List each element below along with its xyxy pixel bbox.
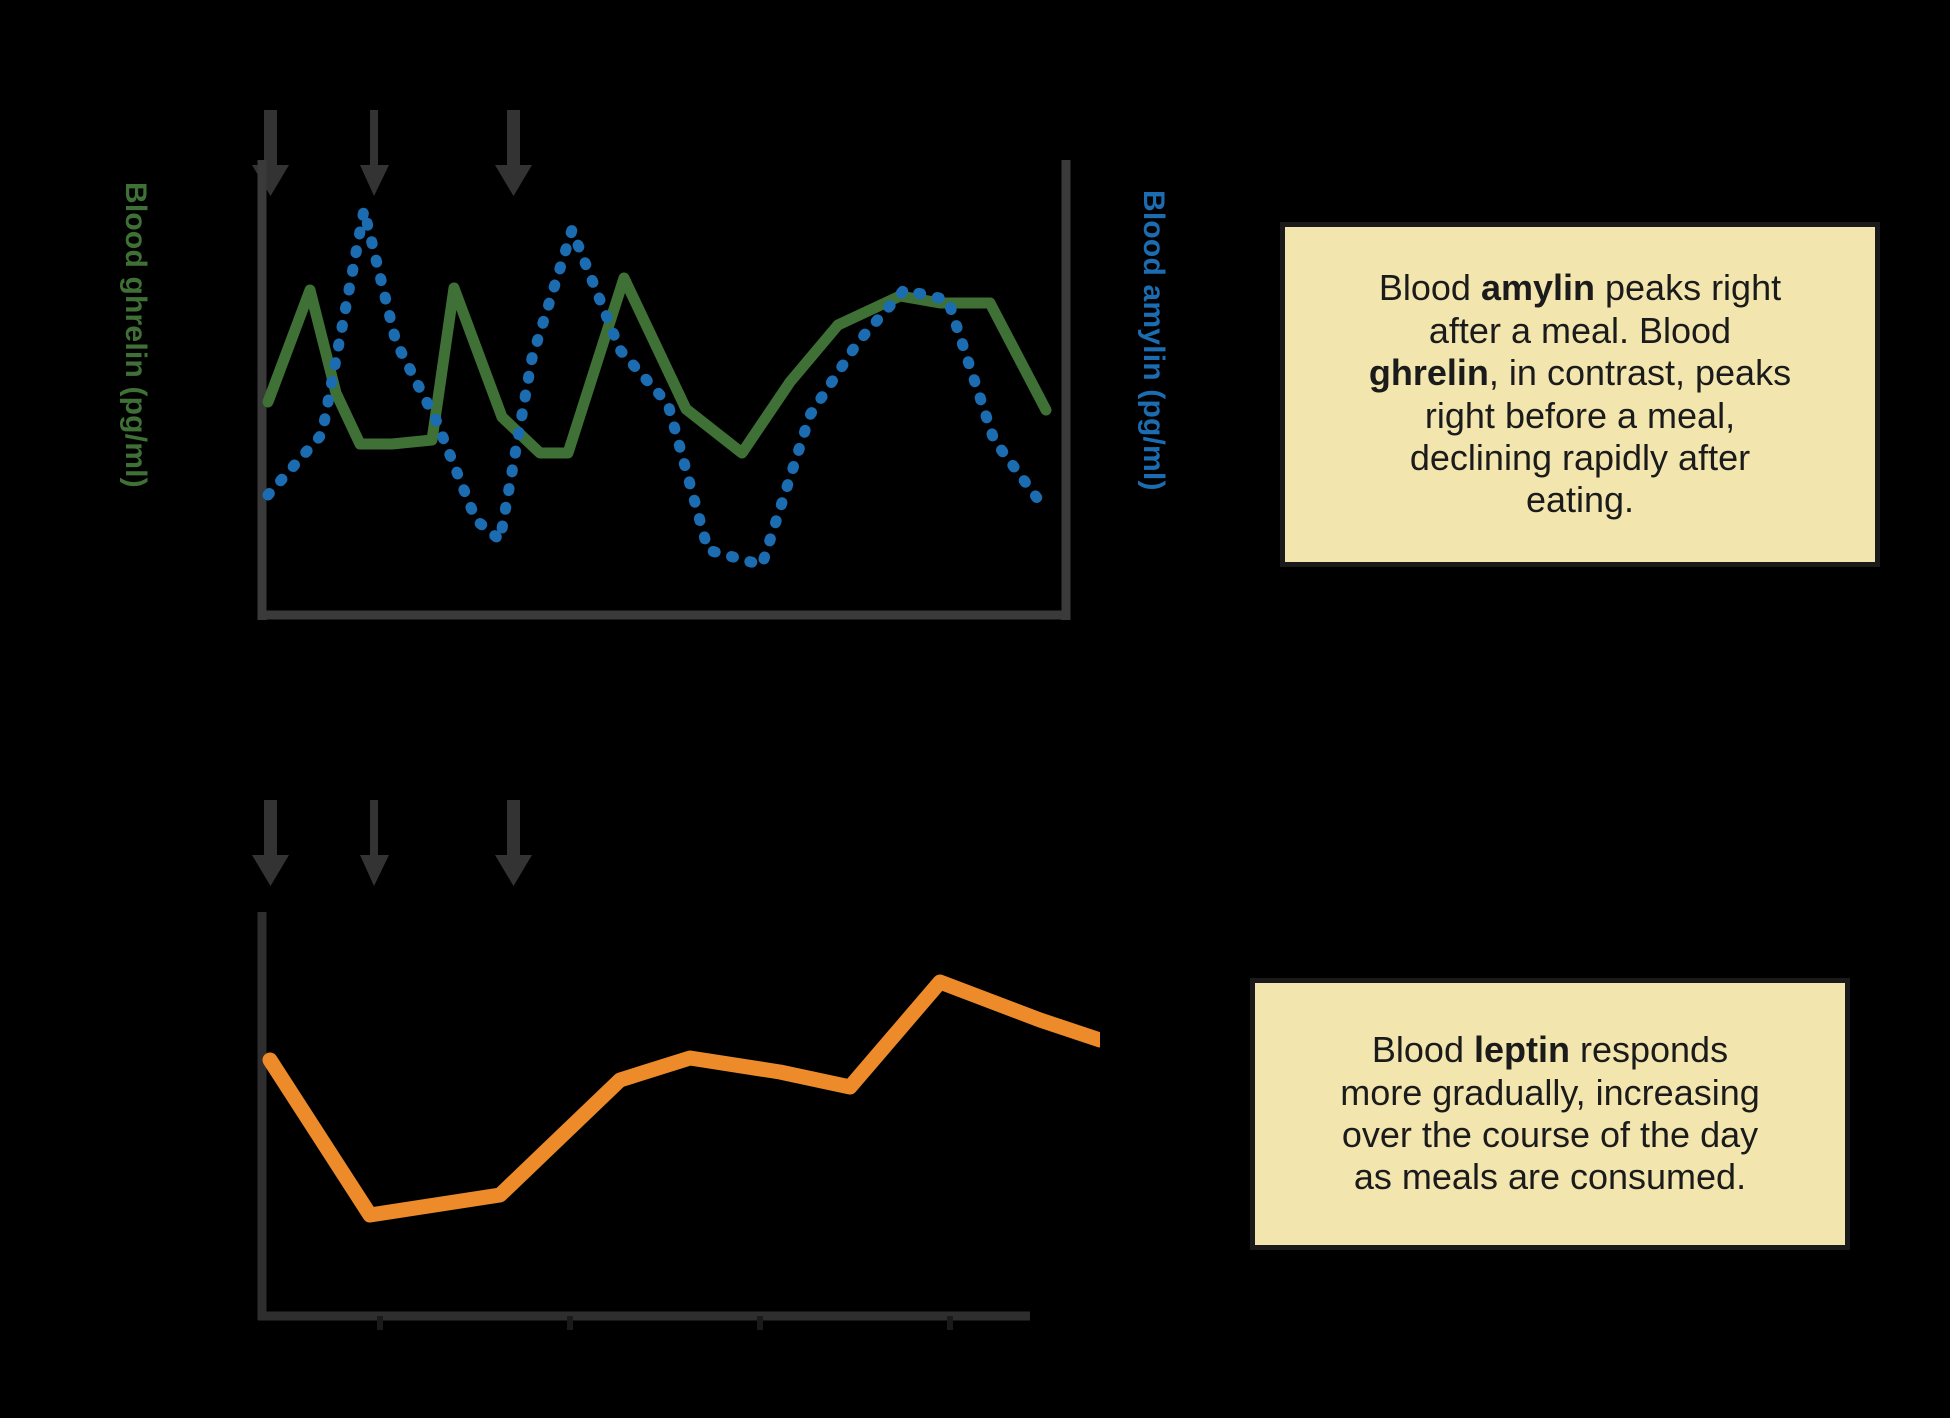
ghrelin-amylin-plot: [200, 110, 1100, 640]
callout2-line1-b: leptin: [1474, 1029, 1570, 1070]
callout-leptin: Blood leptin responds more gradually, in…: [1250, 978, 1850, 1250]
callout2-line2: more gradually, increasing: [1340, 1072, 1760, 1113]
leptin-chart: [200, 800, 1100, 1360]
leptin-plot: [200, 800, 1100, 1360]
callout-leptin-text: Blood leptin responds more gradually, in…: [1340, 1029, 1760, 1199]
callout1-line4: right before a meal,: [1425, 395, 1735, 436]
callout1-line1-b: amylin: [1481, 267, 1595, 308]
callout2-line1-a: Blood: [1372, 1029, 1474, 1070]
callout1-line1-a: Blood: [1379, 267, 1481, 308]
callout2-line3: over the course of the day: [1342, 1114, 1758, 1155]
meal-arrow-3: [495, 110, 532, 196]
callout1-line1-c: peaks right: [1595, 267, 1781, 308]
callout2-line4: as meals are consumed.: [1354, 1156, 1746, 1197]
leptin-series: [270, 982, 1100, 1215]
ghrelin-amylin-chart: [200, 110, 1100, 640]
callout1-line5: declining rapidly after: [1410, 437, 1750, 478]
meal-arrow-2: [360, 800, 389, 886]
callout2-line1-c: responds: [1570, 1029, 1728, 1070]
callout1-line6: eating.: [1526, 479, 1634, 520]
callout1-line3-b: , in contrast, peaks: [1489, 352, 1791, 393]
meal-arrow-1: [252, 800, 289, 886]
meal-arrow-3: [495, 800, 532, 886]
amylin-series: [268, 210, 1046, 565]
callout-amylin-ghrelin: Blood amylin peaks right after a meal. B…: [1280, 222, 1880, 567]
top-chart-right-axis-label: Blood amylin (pg/ml): [1136, 190, 1170, 491]
top-chart-left-axis-label: Blood ghrelin (pg/ml): [118, 182, 152, 488]
callout1-line3-a: ghrelin: [1369, 352, 1489, 393]
callout-amylin-ghrelin-text: Blood amylin peaks right after a meal. B…: [1369, 267, 1791, 522]
meal-arrow-2: [360, 110, 389, 196]
figure-root: Blood ghrelin (pg/ml) Blood amylin (pg/m…: [0, 0, 1950, 1418]
callout1-line2: after a meal. Blood: [1429, 310, 1731, 351]
